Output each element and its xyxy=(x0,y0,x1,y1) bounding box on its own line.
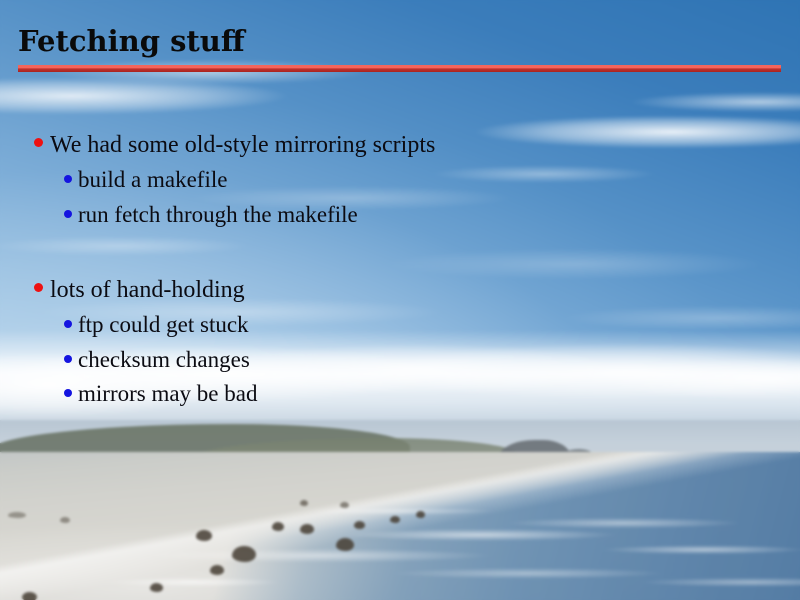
list-item-label: lots of hand-holding xyxy=(50,278,245,302)
slide-content: Fetching stuff We had some old-style mir… xyxy=(0,0,800,600)
page-title: Fetching stuff xyxy=(18,24,245,58)
blue-bullet-icon xyxy=(64,355,72,363)
red-bullet-icon xyxy=(34,138,43,147)
red-bullet-icon xyxy=(34,283,43,292)
list-item[interactable]: checksum changes xyxy=(64,348,250,371)
list-item[interactable]: lots of hand-holding xyxy=(34,278,245,302)
blue-bullet-icon xyxy=(64,210,72,218)
list-item-label: ftp could get stuck xyxy=(78,313,249,336)
list-item-label: build a makefile xyxy=(78,168,227,191)
title-underline-rule xyxy=(18,65,781,72)
blue-bullet-icon xyxy=(64,320,72,328)
list-item[interactable]: We had some old-style mirroring scripts xyxy=(34,133,435,157)
list-item[interactable]: build a makefile xyxy=(64,168,227,191)
list-item[interactable]: mirrors may be bad xyxy=(64,382,257,405)
presentation-slide: Fetching stuff We had some old-style mir… xyxy=(0,0,800,600)
list-item-label: checksum changes xyxy=(78,348,250,371)
list-item[interactable]: run fetch through the makefile xyxy=(64,203,358,226)
list-item-label: mirrors may be bad xyxy=(78,382,257,405)
list-item-label: run fetch through the makefile xyxy=(78,203,358,226)
list-item-label: We had some old-style mirroring scripts xyxy=(50,133,435,157)
blue-bullet-icon xyxy=(64,389,72,397)
blue-bullet-icon xyxy=(64,175,72,183)
list-item[interactable]: ftp could get stuck xyxy=(64,313,249,336)
